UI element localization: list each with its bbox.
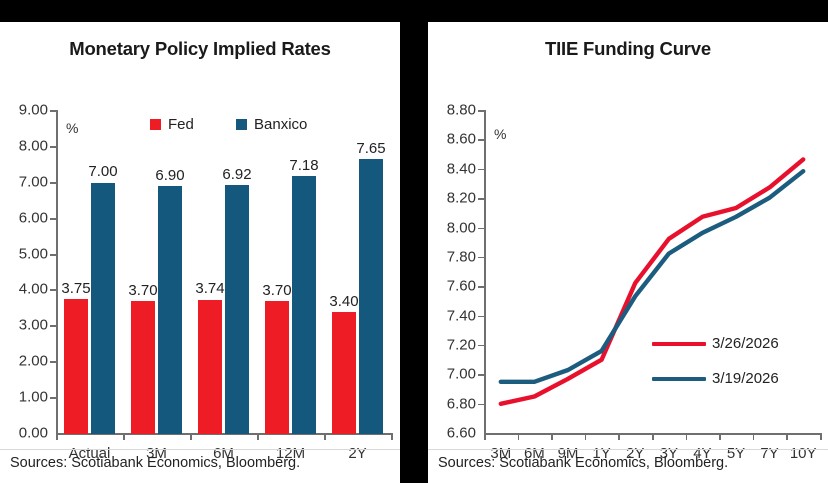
chart-panel-tiie-funding-curve: TIIE Funding Curve 8.80 8.60 8.40 8.20 8… bbox=[428, 22, 828, 483]
y-tick-label: 8.00 bbox=[0, 138, 48, 155]
y-tick-label: 3.00 bbox=[0, 317, 48, 334]
y-tickmark bbox=[50, 182, 56, 184]
y-tick-label: 7.00 bbox=[0, 174, 48, 191]
y-axis-unit-label: % bbox=[66, 120, 78, 136]
legend-label-fed: Fed bbox=[168, 116, 194, 133]
source-divider bbox=[428, 449, 828, 450]
bar-value-label: 3.40 bbox=[329, 293, 358, 310]
bar-banxico-3m[interactable] bbox=[158, 186, 182, 434]
source-divider bbox=[0, 449, 400, 450]
x-tickmark bbox=[123, 433, 125, 440]
x-tick-label: 10Y bbox=[790, 445, 817, 462]
y-axis-line bbox=[56, 110, 58, 434]
bar-value-label: 7.65 bbox=[356, 140, 385, 157]
bar-banxico-6m[interactable] bbox=[225, 185, 249, 434]
x-tickmark bbox=[324, 433, 326, 440]
y-tick-label: 2.00 bbox=[0, 353, 48, 370]
x-tick-label: 2Y bbox=[348, 445, 366, 462]
bar-value-label: 3.70 bbox=[262, 282, 291, 299]
bar-fed-3m[interactable] bbox=[131, 301, 155, 434]
y-tick-label: 6.00 bbox=[0, 210, 48, 227]
bar-value-label: 3.70 bbox=[128, 282, 157, 299]
bar-fed-6m[interactable] bbox=[198, 300, 222, 434]
chart-panel-monetary-policy: Monetary Policy Implied Rates 9.00 8.00 … bbox=[0, 22, 400, 483]
y-tick-label: 0.00 bbox=[0, 425, 48, 442]
bar-banxico-2y[interactable] bbox=[359, 159, 383, 434]
y-tick-label: 5.00 bbox=[0, 246, 48, 263]
x-tick-label: 7Y bbox=[760, 445, 778, 462]
x-tick-label: 5Y bbox=[727, 445, 745, 462]
figure-canvas: Monetary Policy Implied Rates 9.00 8.00 … bbox=[0, 0, 828, 483]
legend-swatch-icon-banxico bbox=[236, 119, 247, 130]
y-tickmark bbox=[50, 146, 56, 148]
bar-fed-12m[interactable] bbox=[265, 301, 289, 434]
legend-swatch-icon-fed bbox=[150, 119, 161, 130]
legend-line-swatch-icon-blue bbox=[652, 377, 706, 381]
bar-value-label: 6.90 bbox=[155, 167, 184, 184]
source-note-right: Sources: Scotiabank Economics, Bloomberg… bbox=[438, 455, 728, 471]
bar-value-label: 6.92 bbox=[222, 166, 251, 183]
line-plot-area bbox=[428, 22, 828, 483]
x-tickmark bbox=[391, 433, 393, 440]
bar-fed-actual[interactable] bbox=[64, 299, 88, 434]
x-tickmark bbox=[190, 433, 192, 440]
bar-fed-2y[interactable] bbox=[332, 312, 356, 434]
legend-label-3-26-2026: 3/26/2026 bbox=[712, 335, 779, 352]
bar-value-label: 3.74 bbox=[195, 280, 224, 297]
y-tick-label: 4.00 bbox=[0, 281, 48, 298]
y-tick-label: 9.00 bbox=[0, 102, 48, 119]
y-tickmark bbox=[50, 218, 56, 220]
y-tickmark bbox=[50, 325, 56, 327]
page-title-left: Monetary Policy Implied Rates bbox=[0, 38, 400, 60]
legend-line-swatch-icon-red bbox=[652, 342, 706, 346]
legend-item-fed[interactable]: Fed bbox=[150, 116, 194, 133]
y-tickmark bbox=[50, 289, 56, 291]
bar-value-label: 7.00 bbox=[88, 163, 117, 180]
y-tickmark bbox=[50, 254, 56, 256]
y-tickmark bbox=[50, 397, 56, 399]
legend-item-banxico[interactable]: Banxico bbox=[236, 116, 307, 133]
x-tickmark bbox=[56, 433, 58, 440]
bar-banxico-12m[interactable] bbox=[292, 176, 316, 434]
legend-item-3-19-2026[interactable]: 3/19/2026 bbox=[652, 370, 779, 387]
y-tickmark bbox=[50, 361, 56, 363]
y-tick-label: 1.00 bbox=[0, 389, 48, 406]
bar-banxico-actual[interactable] bbox=[91, 183, 115, 435]
bar-value-label: 3.75 bbox=[61, 280, 90, 297]
y-tickmark bbox=[50, 110, 56, 112]
source-note-left: Sources: Scotiabank Economics, Bloomberg… bbox=[10, 455, 300, 471]
legend-label-3-19-2026: 3/19/2026 bbox=[712, 370, 779, 387]
line-series-3-26-2026[interactable] bbox=[501, 159, 803, 403]
legend-item-3-26-2026[interactable]: 3/26/2026 bbox=[652, 335, 779, 352]
bar-value-label: 7.18 bbox=[289, 157, 318, 174]
legend-label-banxico: Banxico bbox=[254, 116, 307, 133]
x-tickmark bbox=[257, 433, 259, 440]
